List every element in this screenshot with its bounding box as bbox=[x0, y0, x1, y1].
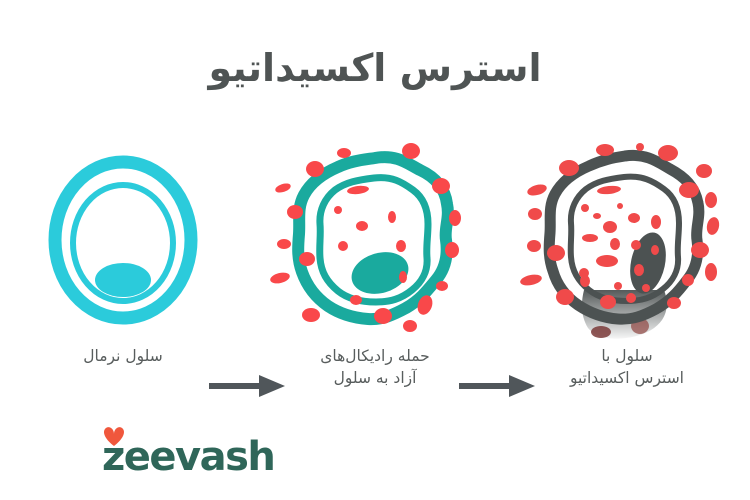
free-radical-attack-illustration bbox=[270, 140, 480, 340]
healthy-cell-nucleus-icon bbox=[95, 263, 151, 297]
logo-wordmark: zeevash bbox=[102, 434, 274, 476]
caption-line: آزاد به سلول bbox=[270, 367, 480, 389]
normal-cell-illustration bbox=[18, 140, 228, 340]
page-title: استرس اکسیداتیو bbox=[0, 46, 750, 92]
caption-free-radical-attack: حمله رادیکال‌های آزاد به سلول bbox=[270, 345, 480, 390]
caption-line: سلول با bbox=[522, 345, 732, 367]
caption-normal-cell: سلول نرمال bbox=[18, 345, 228, 367]
panel-normal-cell: سلول نرمال bbox=[18, 140, 228, 420]
panel-oxidative-stress-cell: سلول با استرس اکسیداتیو bbox=[522, 140, 732, 420]
caption-line: حمله رادیکال‌های bbox=[270, 345, 480, 367]
caption-line: استرس اکسیداتیو bbox=[522, 367, 732, 389]
infographic-canvas: استرس اکسیداتیو سلول نرمال bbox=[0, 0, 750, 500]
cell-progression-stage: سلول نرمال bbox=[0, 140, 750, 420]
zeevash-logo[interactable]: zeevash bbox=[100, 418, 280, 476]
panel-free-radical-attack: حمله رادیکال‌های آزاد به سلول bbox=[270, 140, 480, 420]
caption-line: سلول نرمال bbox=[18, 345, 228, 367]
caption-oxidative-stress-cell: سلول با استرس اکسیداتیو bbox=[522, 345, 732, 390]
oxidative-stress-cell-illustration bbox=[522, 140, 732, 340]
